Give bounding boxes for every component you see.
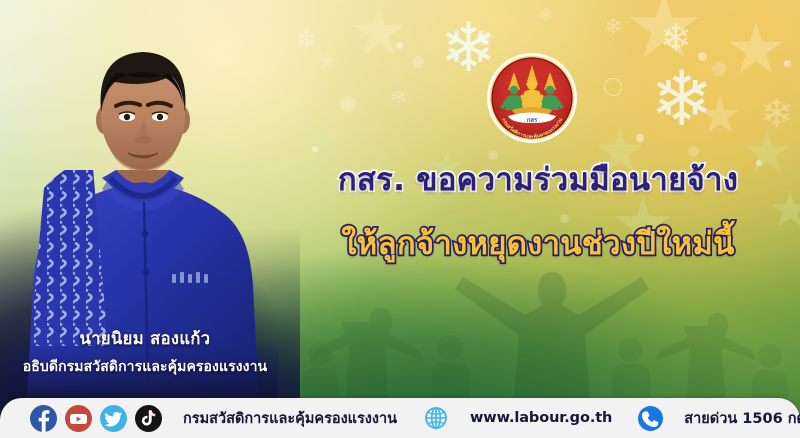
snowflake-icon: ❄ <box>760 94 794 134</box>
bokeh-dot <box>312 146 318 152</box>
tiktok-icon[interactable] <box>135 405 162 432</box>
headline-line-2: ให้ลูกจ้างหยุดงานช่วงปีใหม่นี้ <box>288 226 788 264</box>
bokeh-dot <box>712 62 726 76</box>
speaker-role: อธิบดีกรมสวัสดิการและคุ้มครองแรงงาน <box>0 356 290 378</box>
poster-canvas: ❄ ❄ ❄ ❄ ❄ ❄ ❄ ❄ <box>0 0 800 438</box>
footer-org-name: กรมสวัสดิการและคุ้มครองแรงงาน <box>183 407 397 430</box>
bokeh-dot <box>784 60 791 67</box>
snowflake-icon: ❄ <box>604 16 622 38</box>
footer-website[interactable]: www.labour.go.th <box>470 410 612 426</box>
headline-line-1: กสร. ขอความร่วมมือนายจ้าง <box>288 162 788 200</box>
footer-bar: กรมสวัสดิการและคุ้มครองแรงงาน www.labour… <box>0 398 800 438</box>
speaker-caption: นายนิยม สองแก้ว อธิบดีกรมสวัสดิการและคุ้… <box>0 326 290 378</box>
snowflake-icon: ❄ <box>650 62 714 138</box>
facebook-icon[interactable] <box>30 405 57 432</box>
bokeh-dot <box>340 96 356 112</box>
globe-icon <box>423 405 449 431</box>
bokeh-dot <box>396 42 403 49</box>
headline-block: กสร. ขอความร่วมมือนายจ้าง ให้ลูกจ้างหยุด… <box>288 162 788 264</box>
bokeh-dot <box>698 52 707 61</box>
royal-seal-emblem: กสร กรมสวัสดิการและคุ้มครองแรงงาน <box>486 52 578 144</box>
bokeh-ring <box>604 78 622 96</box>
phone-icon <box>638 406 663 431</box>
bokeh-dot <box>636 134 644 142</box>
speaker-name: นายนิยม สองแก้ว <box>0 326 290 352</box>
youtube-icon[interactable] <box>65 405 92 432</box>
snowflake-icon: ❄ <box>660 20 692 58</box>
svg-text:กสร: กสร <box>527 117 538 124</box>
footer-hotline: สายด่วน 1506 กด 3 หรือ 1546 <box>684 407 800 430</box>
bokeh-dot <box>688 146 699 157</box>
snowflake-icon: ❄ <box>538 6 553 24</box>
bokeh-dot <box>412 56 424 68</box>
twitter-icon[interactable] <box>100 405 127 432</box>
snowflake-icon: ❄ <box>390 88 407 108</box>
bokeh-dot <box>488 150 498 160</box>
